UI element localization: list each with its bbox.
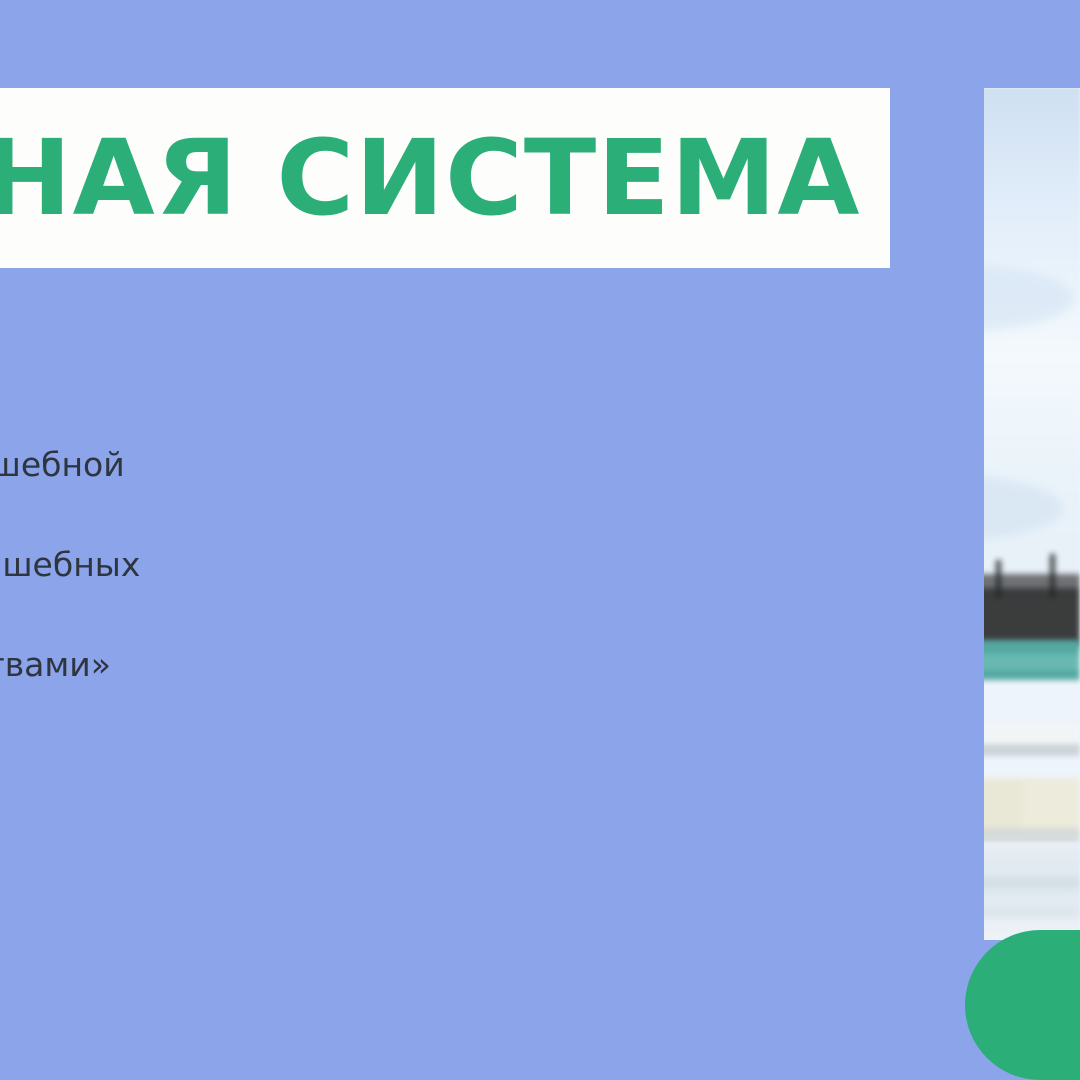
- body-line: нную систему: [0, 590, 502, 640]
- body-line: ахочется пить волшебных: [0, 540, 502, 590]
- title-banner: НАЯ СИСТЕМА: [0, 88, 890, 268]
- footnote: оц: [0, 728, 502, 772]
- body-copy: вам название волшебной а. ахочется пить …: [0, 440, 502, 690]
- presentation-slide: НАЯ СИСТЕМА вам название волшебной а. ах…: [0, 0, 1080, 1080]
- harbour-boats-photo: [984, 88, 1080, 940]
- body-line: вам название волшебной: [0, 440, 502, 490]
- page-title: НАЯ СИСТЕМА: [0, 126, 860, 230]
- photo-frame: [984, 88, 1080, 940]
- green-pill-decoration: [965, 930, 1080, 1080]
- footnote-text: оц: [0, 728, 502, 772]
- body-line: ственными средствами»: [0, 640, 502, 690]
- body-line: а.: [0, 490, 502, 540]
